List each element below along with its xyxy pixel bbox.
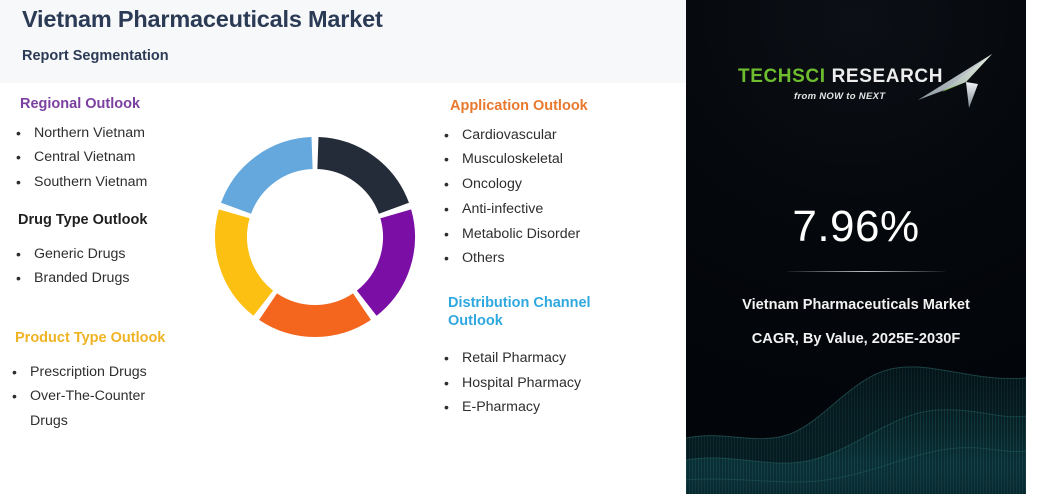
bullet-icon: • [444,346,449,370]
donut-segment [268,307,362,321]
donut-segment [236,153,312,208]
segment-block-product-type-outlook: Product Type Outlook •Prescription Drugs… [8,330,213,433]
wave-mesh-decoration [686,334,1026,494]
list-item: •Hospital Pharmacy [440,371,675,395]
bullet-icon: • [444,395,449,419]
segment-list-distribution-channel-outlook: •Retail Pharmacy •Hospital Pharmacy •E-P… [440,346,675,419]
segment-list-regional-outlook: •Northern Vietnam •Central Vietnam •Sout… [12,121,212,194]
donut-segment [367,214,399,303]
segment-heading-application-outlook: Application Outlook [440,98,670,116]
page-subtitle: Report Segmentation [22,48,169,64]
list-item-label: Musculoskeletal [462,151,563,167]
bullet-icon: • [12,384,17,408]
list-item-label: Anti-infective [462,201,543,217]
bullet-icon: • [16,145,21,169]
list-item: •Cardiovascular [440,123,670,148]
list-item-label: Southern Vietnam [34,174,147,190]
segment-heading-distribution-channel-outlook: Distribution Channel Outlook [440,295,675,330]
list-item: •Metabolic Disorder [440,222,670,247]
bullet-icon: • [444,371,449,395]
list-item: •Branded Drugs [12,266,212,290]
list-item-label: Northern Vietnam [34,125,145,141]
bullet-icon: • [16,121,21,145]
list-item-label: Central Vietnam [34,149,135,165]
page-title: Vietnam Pharmaceuticals Market [22,6,383,33]
logo-arrow-icon [908,42,994,118]
logo-wordmark-primary: TECHSCI [738,66,826,87]
list-item: •E-Pharmacy [440,395,675,419]
right-branding-panel: TECHSCIRESEARCH from NOW to NEXT [686,0,1026,494]
donut-segment [318,153,394,208]
list-item-label: Branded Drugs [34,270,129,286]
cagr-caption-line-2: CAGR, By Value, 2025E-2030F [686,331,1026,347]
list-item: •Generic Drugs [12,242,212,266]
bullet-icon: • [444,123,449,147]
list-item-label: Prescription Drugs [30,364,147,380]
bullet-icon: • [16,170,21,194]
techsci-research-logo: TECHSCIRESEARCH from NOW to NEXT [686,52,1026,122]
segment-block-drug-type-outlook: Drug Type Outlook •Generic Drugs •Brande… [12,212,212,291]
list-item-label: Over-The-Counter Drugs [30,388,145,428]
infographic-root: Vietnam Pharmaceuticals Market Report Se… [0,0,1041,494]
segment-list-application-outlook: •Cardiovascular •Musculoskeletal •Oncolo… [440,123,670,271]
bullet-icon: • [444,172,449,196]
bullet-icon: • [444,147,449,171]
cagr-value: 7.96% [686,202,1026,252]
segment-heading-drug-type-outlook: Drug Type Outlook [12,212,212,230]
bullet-icon: • [12,360,17,384]
list-item: •Oncology [440,172,670,197]
segment-block-regional-outlook: Regional Outlook •Northern Vietnam •Cent… [12,96,212,194]
segmentation-donut-chart [210,132,420,342]
bullet-icon: • [444,197,449,221]
list-item: •Central Vietnam [12,145,212,169]
list-item-label: Cardiovascular [462,127,557,143]
list-item-label: Generic Drugs [34,246,125,262]
list-item: •Anti-infective [440,197,670,222]
cagr-divider [787,271,945,272]
list-item-label: Oncology [462,176,522,192]
left-content-panel: Vietnam Pharmaceuticals Market Report Se… [0,0,686,494]
bullet-icon: • [16,242,21,266]
segment-block-distribution-channel-outlook: Distribution Channel Outlook •Retail Pha… [440,295,675,420]
list-item: •Retail Pharmacy [440,346,675,370]
segment-list-drug-type-outlook: •Generic Drugs •Branded Drugs [12,242,212,291]
list-item: •Over-The-Counter Drugs [8,384,213,433]
logo-tagline: from NOW to NEXT [794,91,885,102]
segment-heading-product-type-outlook: Product Type Outlook [8,330,213,348]
donut-segment [231,214,263,303]
list-item: •Southern Vietnam [12,170,212,194]
bullet-icon: • [16,266,21,290]
list-item-label: Others [462,250,505,266]
list-item-label: Metabolic Disorder [462,226,580,242]
list-item-label: Hospital Pharmacy [462,375,581,391]
list-item-label: E-Pharmacy [462,399,540,415]
list-item: •Musculoskeletal [440,147,670,172]
list-item-label: Retail Pharmacy [462,350,566,366]
bullet-icon: • [444,246,449,270]
segment-block-application-outlook: Application Outlook •Cardiovascular •Mus… [440,98,670,271]
right-white-margin [1026,0,1041,494]
bullet-icon: • [444,222,449,246]
list-item: •Northern Vietnam [12,121,212,145]
segment-heading-regional-outlook: Regional Outlook [12,96,212,114]
list-item: •Prescription Drugs [8,360,213,384]
cagr-caption-line-1: Vietnam Pharmaceuticals Market [686,297,1026,313]
list-item: •Others [440,246,670,271]
segment-list-product-type-outlook: •Prescription Drugs •Over-The-Counter Dr… [8,360,213,433]
